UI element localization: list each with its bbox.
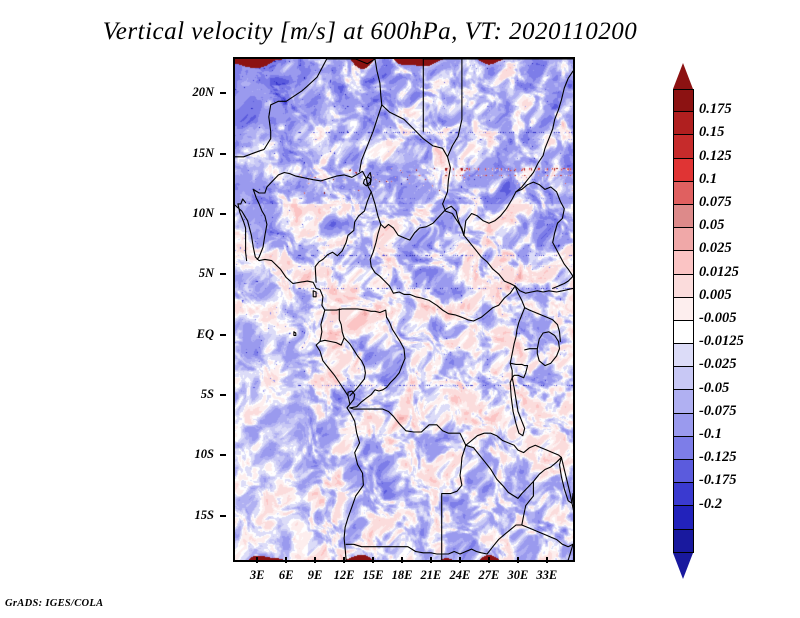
border-line (350, 408, 466, 560)
colorbar-band (673, 460, 694, 483)
border-line (464, 235, 515, 286)
border-line (516, 182, 573, 276)
longitude-tick-mark (459, 557, 461, 563)
colorbar-tick-label: 0.125 (699, 148, 732, 165)
colorbar-tick-label: 0.005 (699, 287, 732, 304)
colorbar-band (673, 275, 694, 298)
colorbar-band (673, 251, 694, 274)
colorbar-band (673, 344, 694, 367)
colorbar-band (673, 483, 694, 506)
page-title: Vertical velocity [m/s] at 600hPa, VT: 2… (0, 18, 740, 46)
border-line (235, 205, 363, 560)
border-line (253, 189, 267, 259)
colorbar-band (673, 298, 694, 321)
colorbar-band (673, 321, 694, 344)
latitude-tick-label: 5N (199, 266, 214, 281)
map-plot-area (233, 57, 575, 562)
latitude-tick-label: EQ (197, 327, 214, 342)
colorbar-tick-label: -0.005 (699, 310, 736, 327)
colorbar-band (673, 159, 694, 182)
colorbar-band (673, 414, 694, 437)
colorbar-band (673, 89, 694, 112)
longitude-tick-mark (546, 557, 548, 563)
colorbar-tick-label: 0.075 (699, 194, 732, 211)
latitude-tick-label: 10S (195, 447, 214, 462)
border-line (339, 309, 365, 396)
colorbar-band (673, 367, 694, 390)
border-line (448, 59, 462, 157)
latitude-tick-mark (220, 515, 226, 517)
latitude-axis: 20N15N10N5NEQ5S10S15S (178, 57, 226, 558)
border-line (375, 59, 382, 105)
latitude-tick-mark (220, 213, 226, 215)
colorbar-bottom-arrow-icon (673, 553, 693, 579)
longitude-tick-mark (343, 557, 345, 563)
border-line (553, 276, 573, 288)
colorbar-top-arrow-icon (673, 63, 693, 89)
border-line (327, 59, 375, 64)
latitude-tick-mark (220, 153, 226, 155)
colorbar-tick-label: -0.175 (699, 472, 736, 489)
border-line (265, 171, 371, 193)
border-line (572, 494, 573, 513)
border-line (346, 544, 442, 554)
border-line (370, 224, 573, 321)
longitude-tick-mark (314, 557, 316, 563)
border-line (320, 338, 344, 345)
latitude-tick-label: 10N (192, 206, 214, 221)
border-line (537, 332, 559, 366)
grads-plot-page: Vertical velocity [m/s] at 600hPa, VT: 2… (0, 0, 800, 618)
colorbar-band (673, 228, 694, 251)
colorbar-tick-label: -0.1 (699, 426, 722, 443)
border-line (371, 192, 464, 240)
border-line (325, 309, 387, 317)
latitude-tick-mark (220, 92, 226, 94)
colorbar-band (673, 135, 694, 158)
colorbar-band (673, 506, 694, 529)
latitude-tick-mark (220, 394, 226, 396)
border-line (525, 349, 538, 350)
longitude-tick-mark (372, 557, 374, 563)
longitude-tick-mark (517, 557, 519, 563)
border-line (464, 192, 516, 236)
longitude-tick-mark (285, 557, 287, 563)
colorbar-tick-label: 0.05 (699, 217, 724, 234)
colorbar-tick-label: -0.075 (699, 403, 736, 420)
border-line (253, 189, 265, 193)
border-line (466, 433, 562, 457)
border-line (347, 391, 355, 408)
border-line (294, 332, 296, 336)
colorbar-tick-label: -0.025 (699, 356, 736, 373)
colorbar-band (673, 390, 694, 413)
latitude-tick-label: 20N (192, 85, 214, 100)
colorbar-tick-label: -0.125 (699, 449, 736, 466)
longitude-axis: 3E6E9E12E15E18E21E24E27E30E33E (233, 563, 571, 581)
border-line (360, 105, 382, 171)
colorbar-tick-label: 0.15 (699, 124, 724, 141)
colorbar-band (673, 437, 694, 460)
colorbar-tick-label: 0.025 (699, 240, 732, 257)
border-line (238, 199, 246, 204)
colorbar-tick-label: 0.0125 (699, 264, 739, 281)
border-line (350, 317, 405, 408)
border-line (442, 525, 573, 554)
longitude-tick-label: 33E (527, 568, 567, 583)
border-line (235, 59, 327, 157)
colorbar-band (673, 205, 694, 228)
colorbar-band (673, 530, 694, 553)
footer-credit: GrADS: IGES/COLA (5, 598, 103, 609)
latitude-tick-mark (220, 454, 226, 456)
colorbar-tick-label: -0.05 (699, 380, 729, 397)
colorbar-tick-label: 0.175 (699, 101, 732, 118)
border-line (313, 291, 316, 297)
colorbar-band (673, 182, 694, 205)
colorbar-tick-label: -0.0125 (699, 333, 744, 350)
latitude-tick-mark (220, 334, 226, 336)
border-line (560, 457, 573, 503)
longitude-tick-mark (430, 557, 432, 563)
colorbar-band (673, 112, 694, 135)
country-borders-overlay (235, 59, 573, 560)
colorbar-tick-label: -0.2 (699, 496, 722, 513)
border-line (315, 179, 371, 283)
colorbar: 0.1750.150.1250.10.0750.050.0250.01250.0… (670, 60, 800, 560)
colorbar-bands (673, 89, 694, 553)
border-line (466, 445, 562, 498)
latitude-tick-mark (220, 273, 226, 275)
border-line (516, 71, 573, 192)
longitude-tick-mark (256, 557, 258, 563)
latitude-tick-label: 5S (201, 387, 214, 402)
longitude-tick-mark (488, 557, 490, 563)
latitude-tick-label: 15N (192, 146, 214, 161)
border-line (510, 378, 525, 436)
colorbar-tick-label: 0.1 (699, 171, 717, 188)
longitude-tick-mark (401, 557, 403, 563)
latitude-tick-label: 15S (195, 508, 214, 523)
border-line (510, 363, 527, 378)
